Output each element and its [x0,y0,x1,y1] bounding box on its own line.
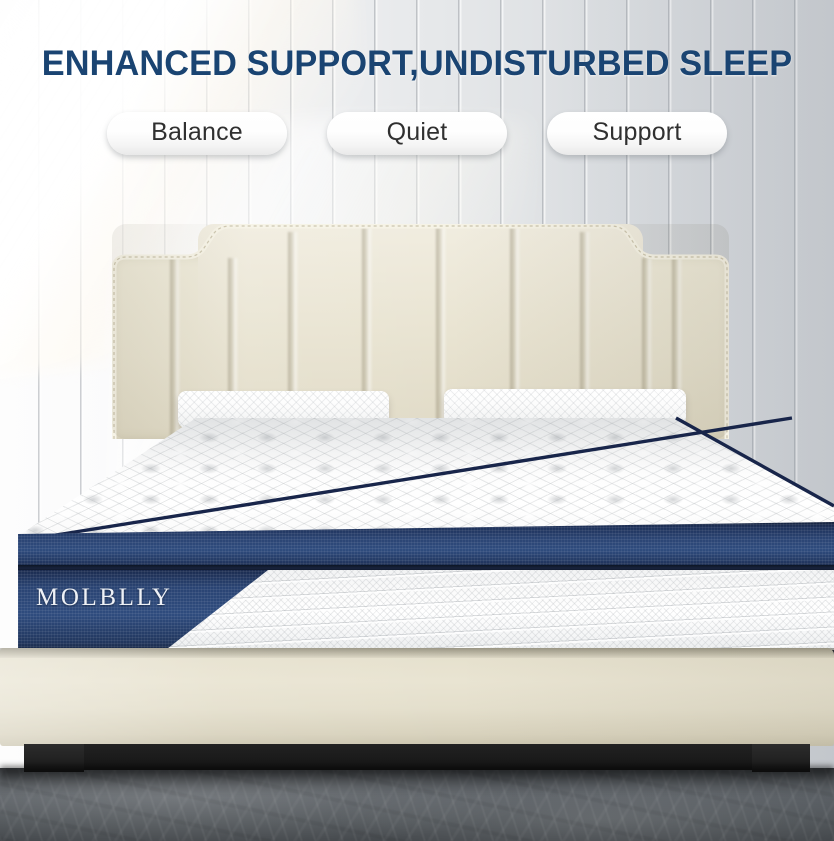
bed-frame-rail [82,744,754,770]
page-title: ENHANCED SUPPORT,UNDISTURBED SLEEP [8,44,825,84]
badge-quiet[interactable]: Quiet [327,112,507,155]
bed-leg-right [752,744,810,772]
badge-support[interactable]: Support [547,112,727,155]
bed-leg-left [24,744,84,772]
mattress-band-fill [18,522,834,570]
badge-balance[interactable]: Balance [107,112,287,155]
feature-badge-group: Balance Quiet Support [0,112,834,155]
concrete-floor [0,768,834,841]
brand-logo: MOLBLLY [36,584,173,612]
mattress-band-texture [18,522,834,570]
mattress [0,418,834,658]
product-hero-image: MOLBLLY ENHANCED SUPPORT,UNDISTURBED SLE… [0,0,834,841]
mattress-pillowtop-band [18,522,834,570]
bed-base [0,648,834,746]
